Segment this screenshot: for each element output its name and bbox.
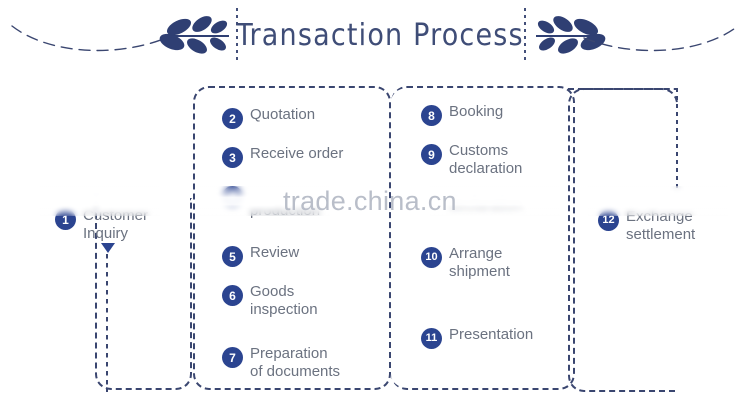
dotted-divider-right — [524, 8, 526, 64]
transaction-process-infographic: Transaction Process — [0, 0, 750, 417]
step-number-badge: 5 — [222, 246, 243, 267]
step-number-badge: 9 — [421, 144, 442, 165]
page-title: Transaction Process — [240, 12, 520, 58]
step-number-badge: 8 — [421, 105, 442, 126]
step-7[interactable]: 7 Preparation of documents — [222, 345, 340, 381]
step-label: Quotation — [250, 106, 315, 124]
step-number-badge: 2 — [222, 108, 243, 129]
step-number-badge: 4 — [222, 186, 243, 207]
step-1[interactable]: 1 Customer Inquiry — [55, 207, 148, 243]
step-number-badge: 6 — [222, 285, 243, 306]
step-label: Review — [250, 244, 299, 262]
step-label: Receive order — [250, 145, 343, 163]
step-3[interactable]: 3 Receive order — [222, 145, 343, 168]
step-11[interactable]: 11 Presentation — [421, 326, 533, 349]
step-label: Preparation of documents — [250, 345, 340, 381]
step-number-badge: 11 — [421, 328, 442, 349]
header: Transaction Process — [0, 0, 750, 72]
stage-box-end-top-corner — [568, 88, 678, 108]
step-12[interactable]: 12 Exchange settlement — [598, 208, 695, 244]
step-label: production — [250, 184, 320, 220]
step-4[interactable]: 4 production — [222, 184, 320, 220]
step-label: Arrange shipment — [449, 245, 510, 281]
step-label: Presentation — [449, 326, 533, 344]
step-number-badge: 7 — [222, 347, 243, 368]
step-number-badge: 1 — [55, 209, 76, 230]
step-label: Customer Inquiry — [83, 207, 148, 243]
step-9[interactable]: 9 Customs declaration declaration — [421, 142, 522, 214]
step-number-badge: 3 — [222, 147, 243, 168]
leaf-ornament-left-icon — [155, 6, 233, 68]
step-5[interactable]: 5 Review — [222, 244, 299, 267]
step-number-badge: 12 — [598, 210, 619, 231]
step-6[interactable]: 6 Goods inspection — [222, 283, 318, 319]
flow-arrow-down — [99, 243, 115, 393]
arrow-stem — [106, 254, 108, 392]
step-label: Goods inspection — [250, 283, 318, 319]
step-2[interactable]: 2 Quotation — [222, 106, 315, 129]
step-10[interactable]: 10 Arrange shipment — [421, 245, 510, 281]
swoosh-right-decoration — [582, 20, 742, 64]
step-label: Customs declaration declaration — [449, 142, 522, 214]
stage-box-end-right-stub — [676, 88, 678, 192]
arrow-head-icon — [101, 243, 115, 253]
step-label: Booking — [449, 103, 503, 121]
step-label: Exchange settlement — [626, 208, 695, 244]
step-number-badge: 10 — [421, 247, 442, 268]
step-8[interactable]: 8 Booking — [421, 103, 503, 126]
swoosh-left-decoration — [8, 20, 168, 64]
